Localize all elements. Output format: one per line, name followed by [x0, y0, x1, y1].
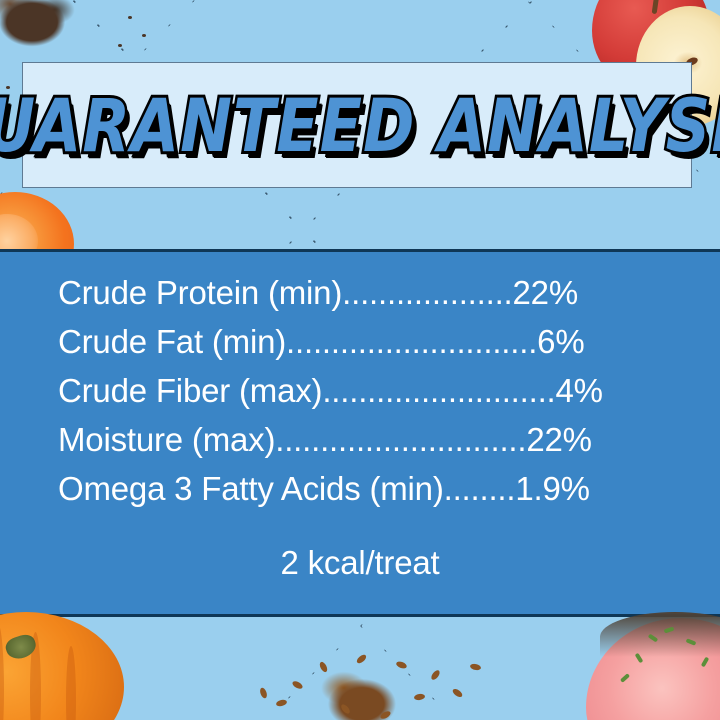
- pumpkin-rib: [30, 632, 41, 720]
- analysis-row: Crude Fiber (max).......................…: [58, 366, 662, 415]
- salmon-skin-edge: [600, 612, 720, 662]
- pumpkin-rib: [0, 624, 4, 720]
- flax-seed: [414, 693, 426, 700]
- pumpkin-icon: [0, 612, 124, 720]
- chia-seed-speck: [118, 44, 122, 47]
- flax-seed: [318, 661, 328, 674]
- flax-seed: [469, 663, 481, 671]
- flax-seed: [451, 687, 463, 698]
- flax-seed: [291, 680, 304, 690]
- analysis-row: Omega 3 Fatty Acids (min)........1.9%: [58, 464, 662, 513]
- flax-seed: [259, 687, 268, 699]
- guaranteed-analysis-label: GUARANTEED ANALYSIS Crude Protein (min).…: [0, 0, 720, 720]
- chia-seed-speck: [142, 34, 146, 37]
- herb-sprig-icon: [701, 657, 709, 668]
- analysis-row: Moisture (max)..........................…: [58, 415, 662, 464]
- flax-seeds-icon: [300, 648, 440, 720]
- chia-seed-speck: [128, 16, 132, 19]
- analysis-rows: Crude Protein (min)...................22…: [58, 268, 662, 513]
- herb-sprig-icon: [648, 634, 659, 643]
- flax-seed: [355, 653, 367, 665]
- apple-stem-icon: [652, 0, 660, 14]
- flax-seed: [395, 660, 407, 669]
- flax-seed: [275, 699, 287, 707]
- herb-sprig-icon: [620, 673, 630, 683]
- herb-sprig-icon: [664, 627, 675, 634]
- analysis-row: Crude Protein (min)...................22…: [58, 268, 662, 317]
- pumpkin-stem-icon: [3, 632, 38, 662]
- flax-seed: [340, 703, 352, 715]
- herb-sprig-icon: [686, 638, 697, 645]
- analysis-row: Crude Fat (min).........................…: [58, 317, 662, 366]
- page-title: GUARANTEED ANALYSIS: [22, 51, 692, 200]
- flax-seed: [430, 669, 442, 681]
- flax-seed: [379, 710, 392, 720]
- herb-sprig-icon: [635, 653, 644, 664]
- calorie-statement: 2 kcal/treat: [0, 544, 720, 582]
- salmon-fillet-icon: [586, 618, 720, 720]
- pumpkin-rib: [66, 646, 76, 720]
